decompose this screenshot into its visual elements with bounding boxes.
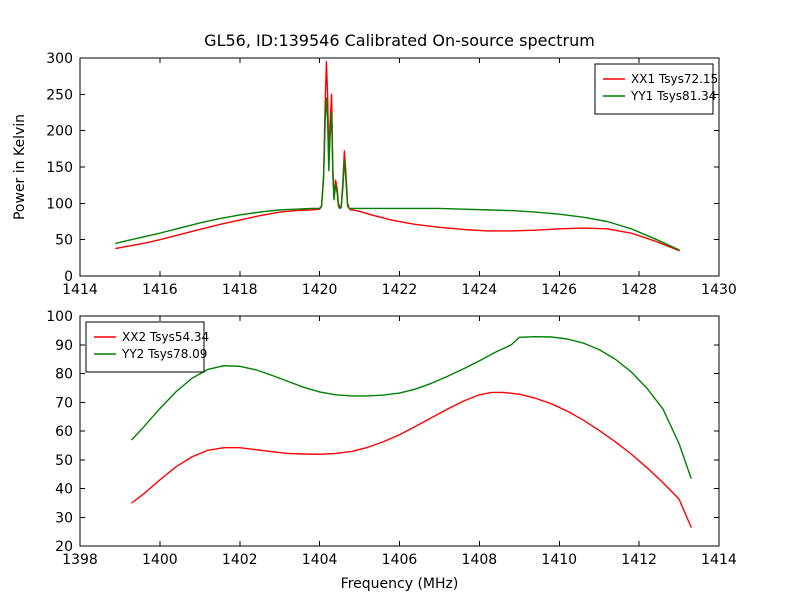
bottom-panel-xticklabel: 1404 [302,552,338,568]
top-panel-yticklabel: 0 [64,269,73,285]
bottom-panel-yticklabel: 70 [55,395,73,411]
plot-canvas: 1414141614181420142214241426142814300501… [0,0,800,600]
bottom-panel-yticklabel: 50 [55,453,73,469]
bottom-panel-xticklabel: 1408 [462,552,498,568]
bottom-panel-yticklabel: 80 [55,367,73,383]
top-panel-yticklabel: 50 [55,233,73,249]
bottom-panel-series-group [132,337,691,527]
top-panel-xticklabel: 1420 [302,282,338,298]
top-panel-xticklabel: 1418 [222,282,258,298]
top-panel-yticklabel: 250 [46,87,73,103]
bottom-panel-yticklabel: 20 [55,539,73,555]
bottom-panel-yticklabel: 60 [55,424,73,440]
spectrum-figure: 1414141614181420142214241426142814300501… [0,0,800,600]
top-panel-title: GL56, ID:139546 Calibrated On-source spe… [204,31,595,50]
top-panel-legend-label-1: YY1 Tsys81.34 [630,89,716,103]
bottom-panel-yticklabel: 30 [55,510,73,526]
top-panel-ylabel: Power in Kelvin [12,114,28,220]
bottom-panel-series-0 [132,392,691,527]
top-panel-xticklabel: 1416 [142,282,178,298]
top-panel-legend: XX1 Tsys72.15YY1 Tsys81.34 [595,64,718,114]
bottom-panel-xticklabel: 1410 [541,552,577,568]
top-panel-yticklabel: 100 [46,196,73,212]
top-panel-yticklabel: 300 [46,51,73,67]
bottom-panel-xlabel: Frequency (MHz) [341,576,459,592]
bottom-panel-yticklabel: 100 [46,309,73,325]
bottom-panel-yticklabel: 40 [55,482,73,498]
top-panel: 1414141614181420142214241426142814300501… [12,31,737,298]
top-panel-xticklabel: 1424 [462,282,498,298]
top-panel-yticklabel: 150 [46,160,73,176]
top-panel-legend-label-0: XX1 Tsys72.15 [631,72,718,86]
bottom-panel-xticklabel: 1412 [621,552,657,568]
bottom-panel-yticklabel: 90 [55,338,73,354]
top-panel-xticklabel: 1422 [382,282,418,298]
bottom-panel-xticklabel: 1406 [382,552,418,568]
bottom-panel-xticklabel: 1402 [222,552,258,568]
bottom-panel-series-1 [132,337,691,478]
bottom-panel-xticklabel: 1400 [142,552,178,568]
top-panel-yticklabel: 200 [46,124,73,140]
top-panel-xticklabel: 1430 [701,282,737,298]
bottom-panel-legend-label-0: XX2 Tsys54.34 [122,330,209,344]
top-panel-xticklabel: 1428 [621,282,657,298]
bottom-panel-legend: XX2 Tsys54.34YY2 Tsys78.09 [86,322,209,372]
top-panel-xticklabel: 1426 [541,282,577,298]
bottom-panel-legend-label-1: YY2 Tsys78.09 [121,347,207,361]
bottom-panel-xticklabel: 1414 [701,552,737,568]
top-panel-series-1 [116,98,679,250]
bottom-panel: 1398140014021404140614081410141214142030… [46,309,737,592]
